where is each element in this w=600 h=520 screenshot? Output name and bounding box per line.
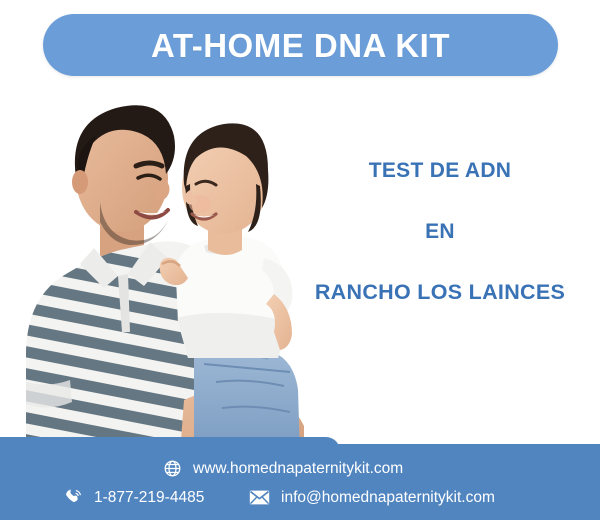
location-headings: TEST DE ADN EN RANCHO LOS LAINCES	[295, 160, 585, 304]
heading-line-2: EN	[295, 221, 585, 242]
globe-icon	[163, 459, 182, 478]
poster-canvas: AT-HOME DNA KIT	[0, 0, 600, 520]
footer-contact-rows: www.homednapaternitykit.com 1-877-219-44…	[0, 444, 600, 520]
footer-email[interactable]: info@homednapaternitykit.com	[249, 488, 495, 507]
footer-phone[interactable]: 1-877-219-4485	[64, 488, 204, 507]
footer-email-label: info@homednapaternitykit.com	[281, 490, 495, 506]
father-and-child-photo	[8, 82, 338, 454]
footer-phone-label: 1-877-219-4485	[94, 490, 204, 506]
heading-line-1: TEST DE ADN	[295, 160, 585, 181]
header-banner: AT-HOME DNA KIT	[43, 14, 558, 76]
phone-icon	[64, 488, 83, 507]
heading-line-3: RANCHO LOS LAINCES	[295, 282, 585, 304]
footer-website-label: www.homednapaternitykit.com	[193, 461, 403, 477]
banner-title: AT-HOME DNA KIT	[151, 29, 450, 62]
envelope-icon	[249, 488, 270, 507]
footer-website[interactable]: www.homednapaternitykit.com	[163, 459, 403, 478]
